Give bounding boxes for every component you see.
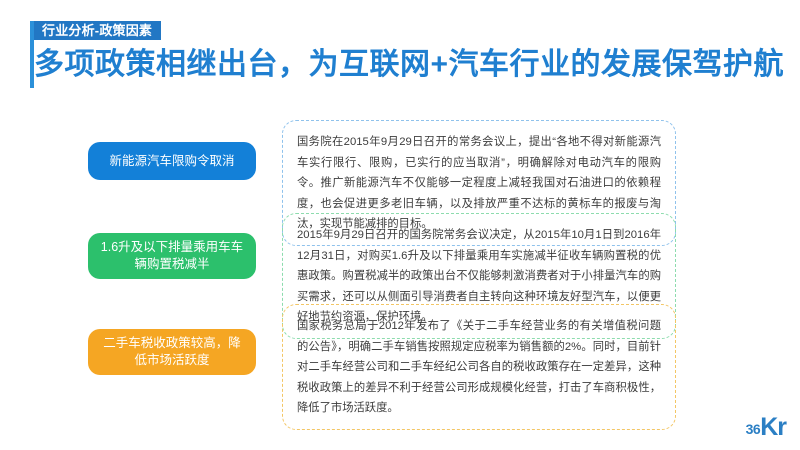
brand-logo: 36 Kr <box>746 415 786 440</box>
policy-label-badge: 二手车税收政策较高，降低市场活跃度 <box>88 329 256 375</box>
page-header: 行业分析-政策因素 多项政策相继出台，为互联网+汽车行业的发展保驾护航 <box>0 0 800 100</box>
policy-rows: 新能源汽车限购令取消 国务院在2015年9月29日召开的常务会议上，提出“各地不… <box>0 112 800 402</box>
logo-prefix-text: 36 <box>746 422 761 440</box>
logo-suffix-text: Kr <box>760 415 786 440</box>
policy-label-badge: 新能源汽车限购令取消 <box>88 142 256 180</box>
policy-row: 1.6升及以下排量乘用车车辆购置税减半 2015年9月29日召开的国务院常务会议… <box>0 210 800 302</box>
section-eyebrow-tag: 行业分析-政策因素 <box>34 21 161 40</box>
policy-label-badge: 1.6升及以下排量乘用车车辆购置税减半 <box>88 233 256 279</box>
page-title: 多项政策相继出台，为互联网+汽车行业的发展保驾护航 <box>34 45 784 85</box>
policy-description-callout: 国家税务总局于2012年发布了《关于二手车经营业务的有关增值税问题的公告》，明确… <box>282 304 676 430</box>
policy-row: 新能源汽车限购令取消 国务院在2015年9月29日召开的常务会议上，提出“各地不… <box>0 112 800 210</box>
policy-row: 二手车税收政策较高，降低市场活跃度 国家税务总局于2012年发布了《关于二手车经… <box>0 302 800 402</box>
